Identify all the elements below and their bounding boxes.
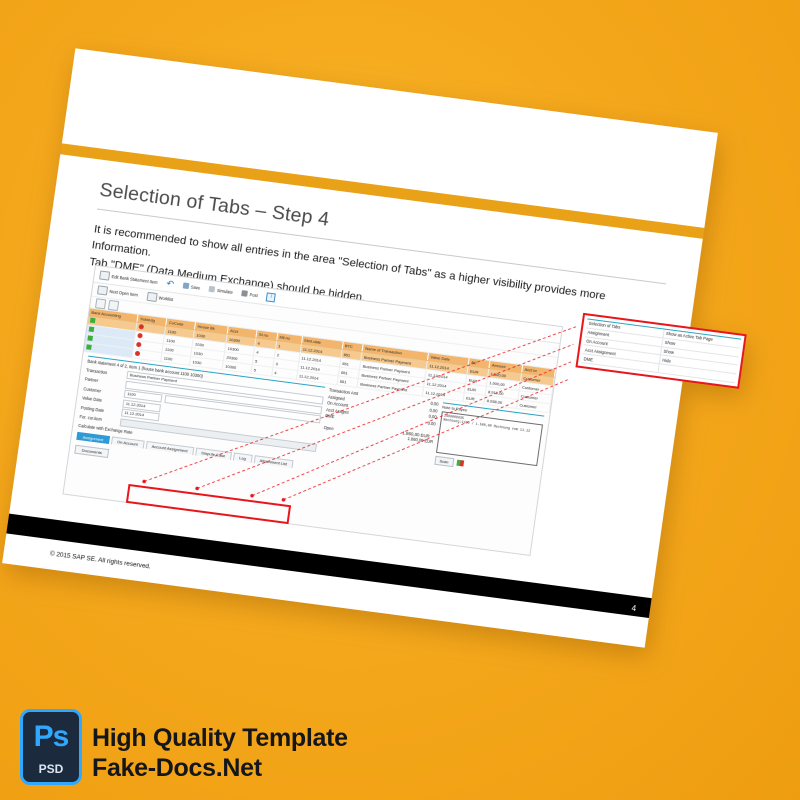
tab-on-account[interactable]: On Account (111, 437, 145, 449)
ps-badge-top: Ps (23, 720, 79, 754)
grid-refresh-icon[interactable] (95, 298, 106, 309)
worklist-icon (146, 292, 157, 302)
slide-surface: Selection of Tabs – Step 4 It is recomme… (2, 48, 718, 647)
save-icon (183, 282, 190, 289)
amount-label: DME (325, 413, 335, 419)
undo-icon[interactable]: ↶ (166, 279, 175, 288)
post-icon (241, 290, 248, 297)
grid-filter-icon[interactable] (108, 299, 119, 310)
info-icon[interactable]: i (266, 292, 276, 302)
post-button[interactable]: Post (241, 290, 258, 298)
cell-account: 1100 (552, 386, 553, 395)
edit-icon (99, 270, 110, 280)
next-open-item-label: Next Open Item (109, 289, 138, 298)
status-red-icon (135, 351, 141, 357)
photoshop-psd-icon: Ps PSD (20, 709, 82, 785)
poster-background: Selection of Tabs – Step 4 It is recomme… (0, 0, 800, 800)
next-item-icon (97, 285, 108, 295)
status-green-icon (90, 318, 96, 324)
watermark-line-2: Fake-Docs.Net (92, 754, 262, 783)
save-button[interactable]: Save (183, 282, 201, 290)
scan-button[interactable]: Scan (434, 455, 454, 466)
cell-account: 1100 (550, 395, 551, 404)
edit-item-label: Edit Bank Statement Item (111, 273, 158, 284)
col-account[interactable]: Account (554, 370, 555, 377)
simulate-label: Simulate (217, 287, 234, 294)
tab-assignment[interactable]: Assignment (76, 432, 110, 444)
amount-value: 0,00 (428, 414, 437, 420)
cell-account: 1100 (549, 404, 550, 413)
detail-amount-column: Transaction Amt 0,00 Assigned 0,00 On Ac… (319, 387, 439, 475)
amount-value (434, 428, 435, 433)
amount-value: 0,00 (430, 401, 439, 407)
tab-log[interactable]: Log (233, 453, 253, 463)
open-label: Open (323, 425, 334, 431)
worklist-button[interactable]: Worklist (146, 292, 174, 304)
selection-panel-body: Selection of Tabs Show as Active Tab Pag… (581, 318, 741, 383)
selection-of-tabs-annotation: Selection of Tabs Show as Active Tab Pag… (575, 313, 746, 389)
status-green-icon (89, 326, 95, 332)
watermark-line-1: High Quality Template (92, 724, 348, 753)
selection-of-tabs-table: Selection of Tabs Show as Active Tab Pag… (581, 319, 741, 383)
status-green-icon (87, 335, 93, 341)
status-red-icon (139, 324, 145, 330)
watermark-bar: Ps PSD High Quality Template Fake-Docs.N… (0, 700, 800, 800)
simulate-button[interactable]: Simulate (209, 286, 234, 295)
status-red-icon (136, 342, 142, 348)
note-to-payee-panel: Note to Payee 1400000035 Rechnung:1100 /… (432, 402, 544, 489)
save-label: Save (191, 284, 201, 290)
worklist-label: Worklist (158, 295, 173, 302)
post-label: Post (249, 292, 258, 298)
ps-badge-bottom: PSD (23, 762, 79, 776)
status-green-icon (86, 344, 92, 350)
presentation-slide: Selection of Tabs – Step 4 It is recomme… (2, 48, 718, 647)
language-flag-icon (456, 460, 464, 467)
amount-value: 0,00 (427, 420, 436, 426)
documents-button[interactable]: Documents (74, 445, 109, 458)
status-red-icon (138, 333, 144, 339)
cell-account: 1100 (553, 377, 554, 386)
amount-value: 0,00 (429, 407, 438, 413)
simulate-icon (209, 286, 216, 293)
